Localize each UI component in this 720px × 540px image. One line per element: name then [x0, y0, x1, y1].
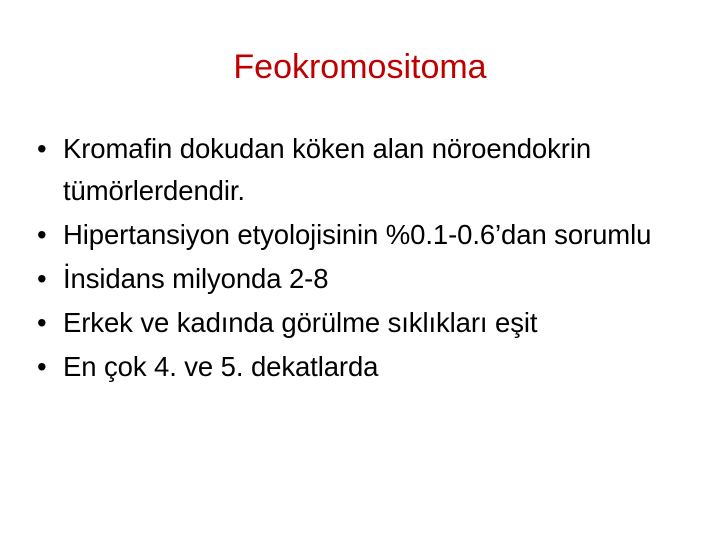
bullet-point-icon: • — [37, 302, 55, 344]
list-item: • Kromafin dokudan köken alan nöroendokr… — [30, 128, 678, 212]
slide-body: • Kromafin dokudan köken alan nöroendokr… — [30, 128, 678, 390]
list-item-text: İnsidans milyonda 2-8 — [63, 258, 678, 300]
presentation-slide: Feokromositoma • Kromafin dokudan köken … — [0, 0, 720, 540]
slide-title: Feokromositoma — [0, 47, 720, 87]
list-item: • Hipertansiyon etyolojisinin %0.1-0.6’d… — [30, 214, 678, 256]
list-item-text: En çok 4. ve 5. dekatlarda — [63, 346, 678, 388]
list-item: • Erkek ve kadında görülme sıklıkları eş… — [30, 302, 678, 344]
bullet-point-icon: • — [37, 128, 55, 170]
list-item-text: Erkek ve kadında görülme sıklıkları eşit — [63, 302, 678, 344]
list-item-text: Kromafin dokudan köken alan nöroendokrin… — [63, 128, 678, 212]
list-item-text: Hipertansiyon etyolojisinin %0.1-0.6’dan… — [63, 214, 678, 256]
bullet-point-icon: • — [37, 258, 55, 300]
bullet-point-icon: • — [37, 346, 55, 388]
list-item: • İnsidans milyonda 2-8 — [30, 258, 678, 300]
bullet-point-icon: • — [37, 214, 55, 256]
bullet-list: • Kromafin dokudan köken alan nöroendokr… — [30, 128, 678, 388]
list-item: • En çok 4. ve 5. dekatlarda — [30, 346, 678, 388]
